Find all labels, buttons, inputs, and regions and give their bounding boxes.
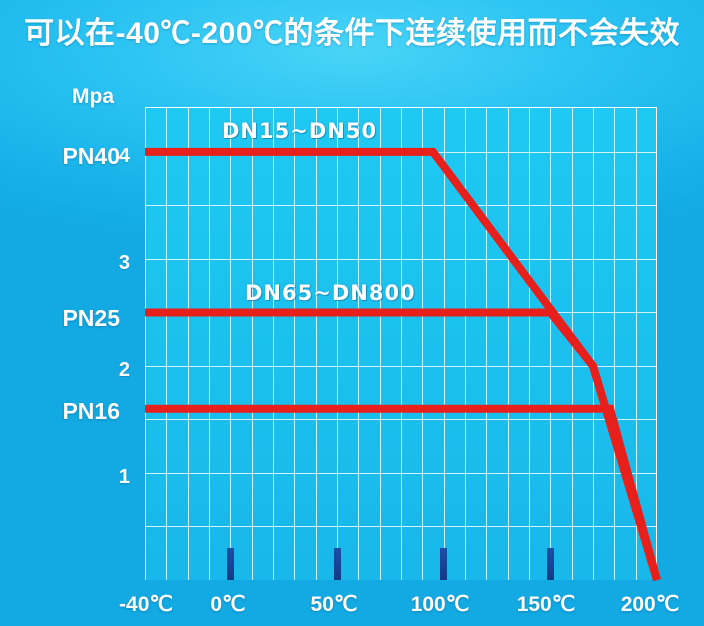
x-tick-150: 150℃ [496, 592, 596, 617]
x-tick-marker [334, 548, 341, 580]
x-tick-marker [227, 548, 234, 580]
x-tick-200: 200℃ [600, 592, 700, 617]
y-tick-3: 3 [90, 252, 130, 275]
curve-layer [145, 107, 657, 580]
y-annotation-pn16: PN16 [10, 398, 120, 425]
chart-page: 可以在-40℃-200℃的条件下连续使用而不会失效 Mpa PN40 PN25 … [0, 0, 704, 626]
x-tick-50: 50℃ [284, 592, 384, 617]
y-annotation-pn25: PN25 [10, 305, 120, 332]
x-tick-marker [547, 548, 554, 580]
page-title: 可以在-40℃-200℃的条件下连续使用而不会失效 [0, 8, 704, 52]
curve-dn15-dn50 [145, 152, 657, 580]
y-tick-1: 1 [90, 466, 130, 489]
x-tick-100: 100℃ [390, 592, 490, 617]
y-tick-2: 2 [90, 359, 130, 382]
y-axis-unit-label: Mpa [72, 85, 114, 109]
series-label-dn65-dn800: DN65~DN800 [245, 281, 416, 305]
y-tick-4: 4 [90, 145, 130, 168]
curve-dn65-dn800 [145, 313, 657, 581]
series-label-dn15-dn50: DN15~DN50 [222, 119, 377, 143]
plot-area [145, 107, 657, 580]
curve-pn16 [145, 409, 657, 580]
x-tick-marker [440, 548, 447, 580]
x-tick-0: 0℃ [178, 592, 278, 617]
